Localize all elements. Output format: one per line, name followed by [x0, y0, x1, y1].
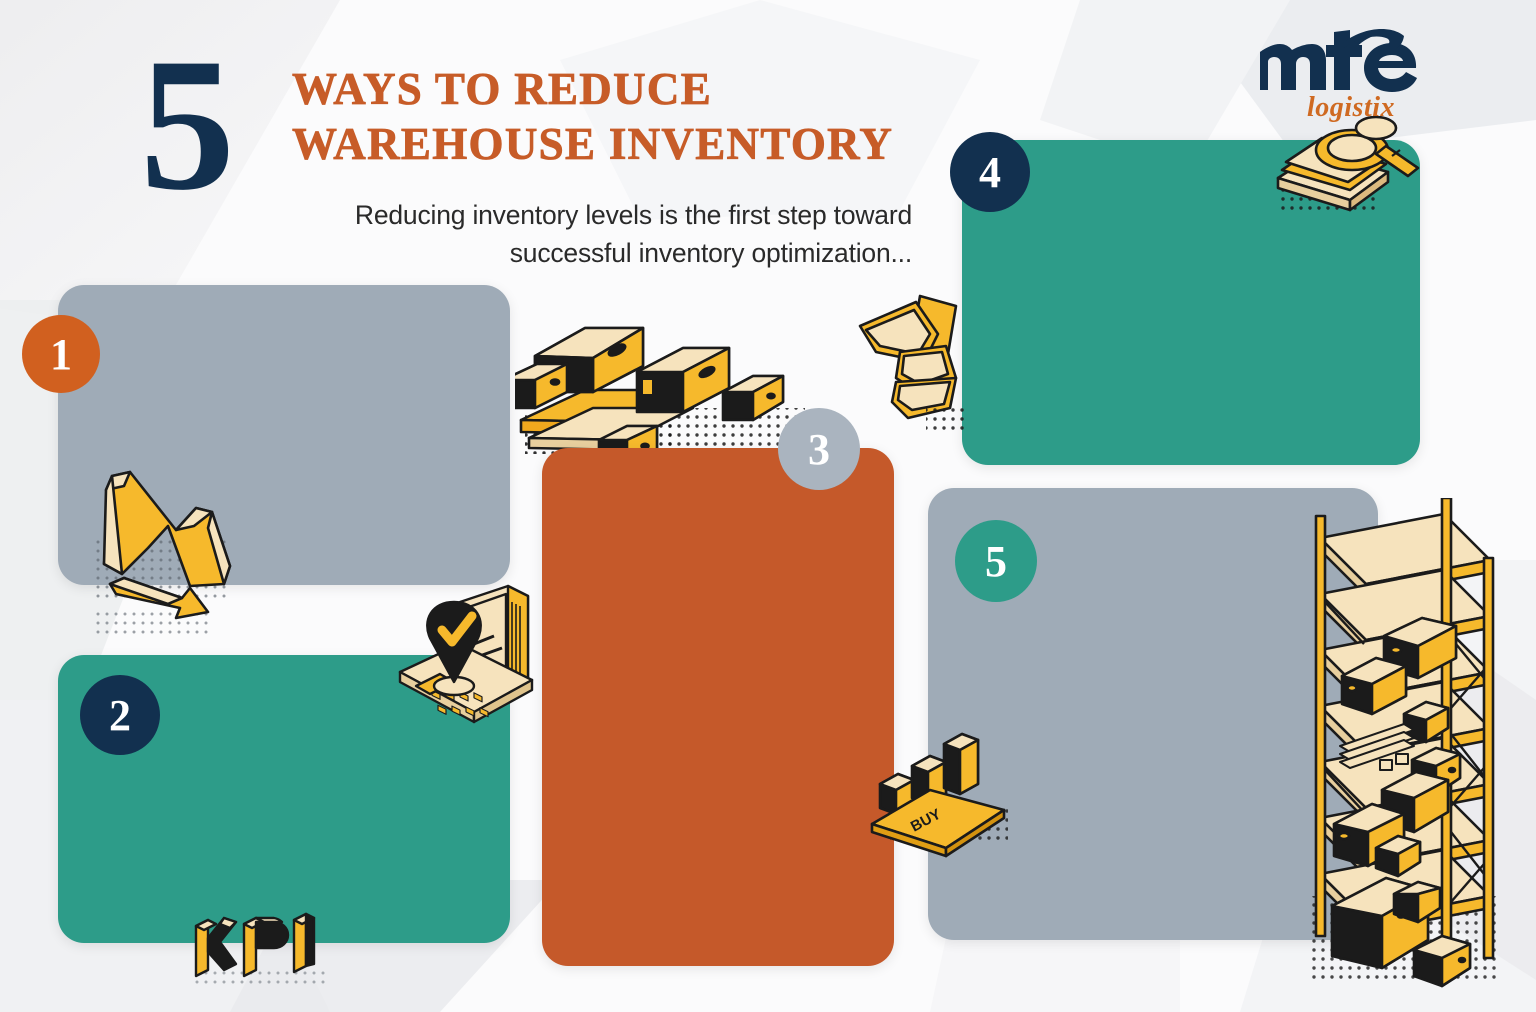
- card-5-badge: 5: [955, 520, 1037, 602]
- logo-tagline: logistix: [1256, 92, 1446, 124]
- card-3-badge: 3: [778, 408, 860, 490]
- laptop-location-pin-icon: [382, 582, 582, 734]
- title-line-2: WAREHOUSE INVENTORY: [292, 117, 893, 172]
- page-title: WAYS TO REDUCE WAREHOUSE INVENTORY: [292, 62, 893, 172]
- logo-icon: [1256, 28, 1446, 96]
- header-big-number: 5: [140, 38, 231, 213]
- card-4-badge: 4: [950, 132, 1030, 212]
- flying-papers-icon: [852, 282, 972, 452]
- card-2-badge: 2: [80, 675, 160, 755]
- buy-phone-bar-chart-icon: BUY: [870, 728, 1020, 858]
- title-line-1: WAYS TO REDUCE: [292, 62, 893, 117]
- brand-logo[interactable]: logistix: [1256, 28, 1446, 124]
- card-1-badge: 1: [22, 315, 100, 393]
- page-subtitle: Reducing inventory levels is the first s…: [300, 197, 912, 272]
- warehouse-racking-icon: [1294, 498, 1534, 998]
- declining-chart-arrow-icon: [78, 468, 268, 643]
- kpi-3d-letters-icon: [186, 908, 336, 992]
- logo-mte-mark: [1256, 28, 1446, 96]
- magnifier-over-documents-icon: [1272, 116, 1422, 226]
- card-3[interactable]: [542, 448, 894, 966]
